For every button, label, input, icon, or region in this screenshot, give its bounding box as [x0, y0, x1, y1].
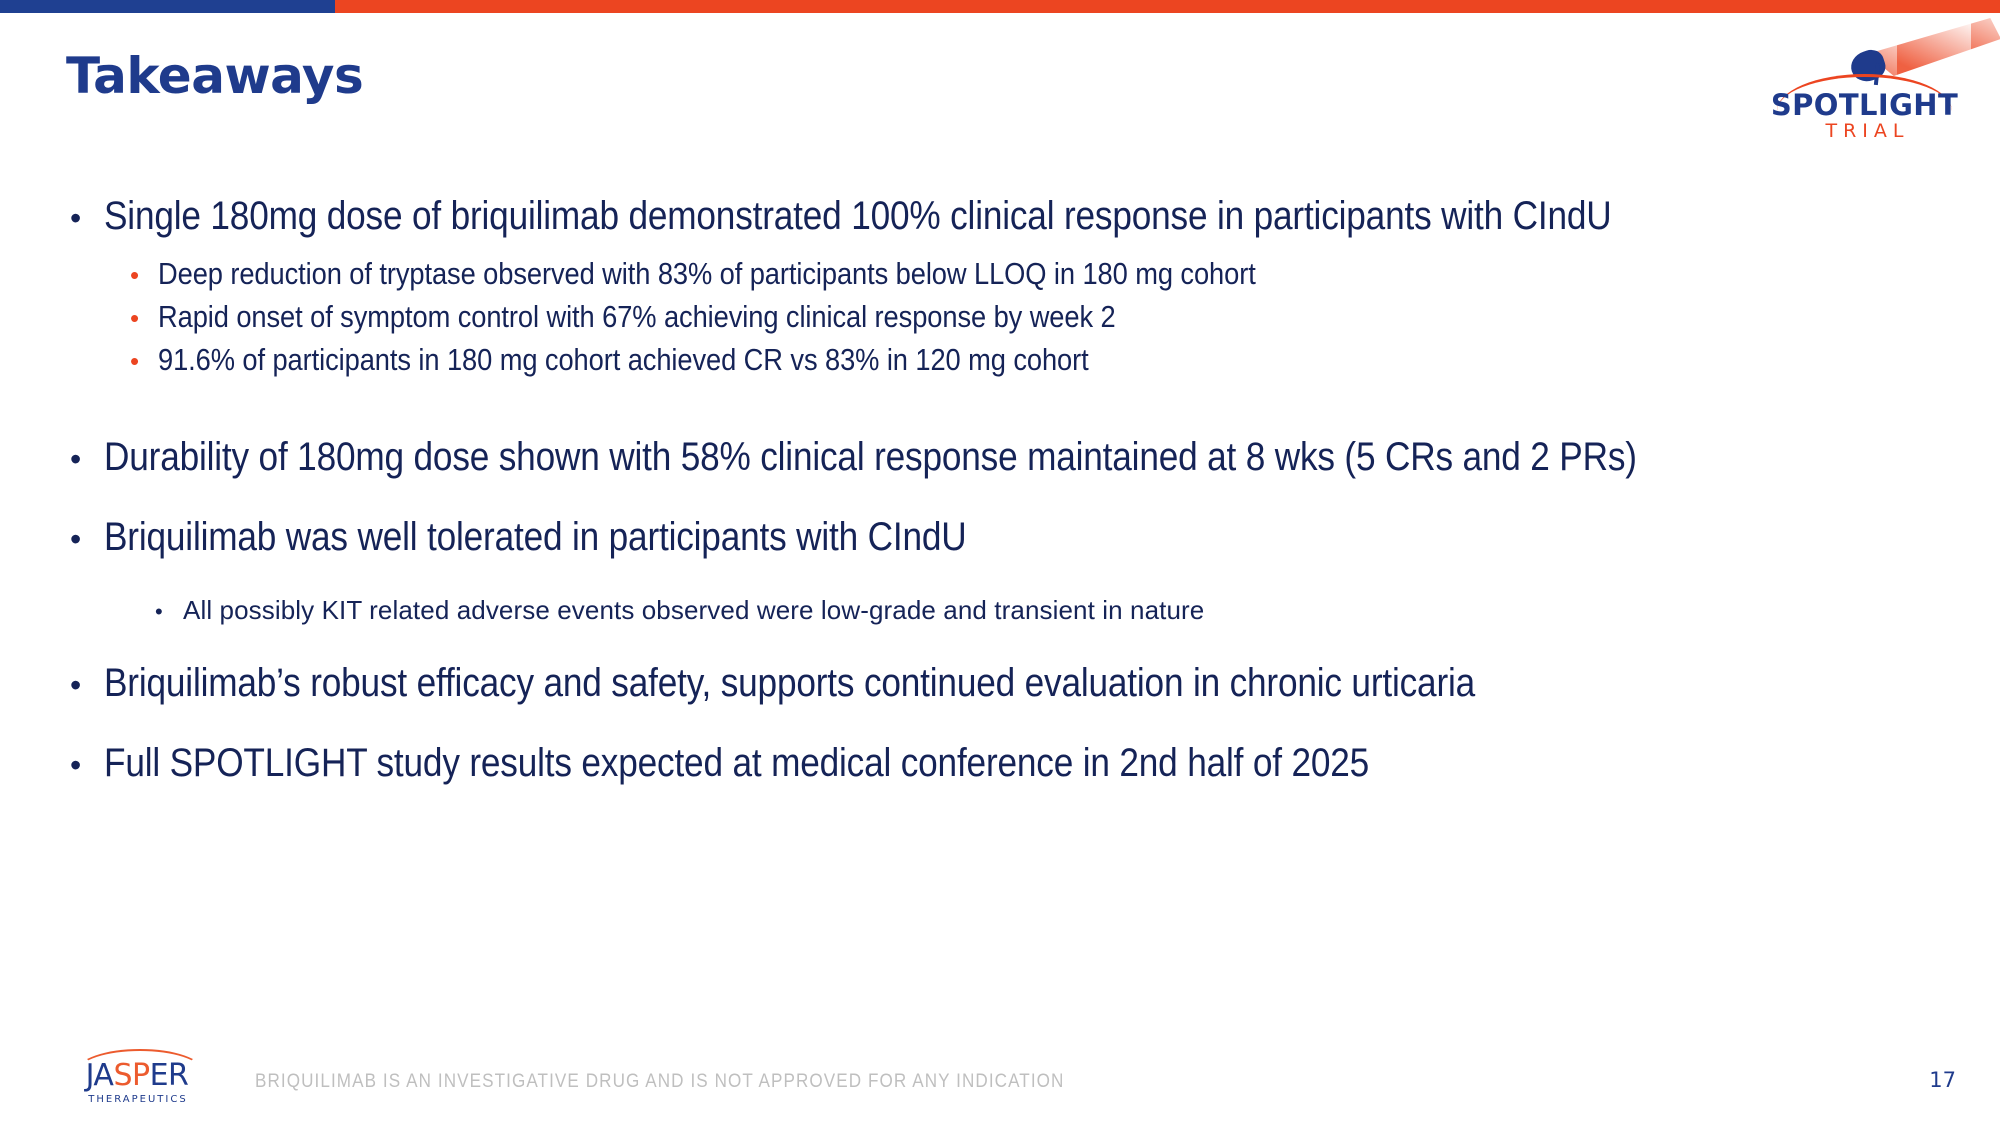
jasper-word-part-2: SP — [113, 1058, 149, 1093]
bullet-dot-icon: • — [130, 262, 158, 288]
bullet-text: 91.6% of participants in 180 mg cohort a… — [158, 344, 1089, 375]
spacer — [0, 477, 2000, 517]
spacer — [0, 703, 2000, 743]
bullet-dot-icon: • — [70, 669, 104, 701]
bullet-text: Durability of 180mg dose shown with 58% … — [104, 437, 1637, 477]
bullet-text: Briquilimab was well tolerated in partic… — [104, 517, 967, 557]
spacer — [0, 557, 2000, 597]
bullet-item: • Durability of 180mg dose shown with 58… — [0, 437, 2000, 477]
bullet-item: • 91.6% of participants in 180 mg cohort… — [0, 344, 2000, 375]
spotlight-subword: TRIAL — [1757, 120, 1972, 142]
page-title: Takeaways — [66, 50, 363, 103]
jasper-subword: THERAPEUTICS — [72, 1095, 202, 1105]
bullet-text: All possibly KIT related adverse events … — [183, 597, 1204, 623]
bullet-item: • Deep reduction of tryptase observed wi… — [0, 258, 2000, 289]
disclaimer-text: BRIQUILIMAB IS AN INVESTIGATIVE DRUG AND… — [255, 1071, 1064, 1093]
bullet-dot-icon: • — [130, 348, 158, 374]
bullet-text: Deep reduction of tryptase observed with… — [158, 258, 1256, 289]
slide-footer: JASPER THERAPEUTICS BRIQUILIMAB IS AN IN… — [0, 1015, 2000, 1125]
top-bar-orange-segment — [335, 0, 2000, 13]
bullet-item: • All possibly KIT related adverse event… — [0, 597, 2000, 623]
bullet-item: • Single 180mg dose of briquilimab demon… — [0, 196, 2000, 236]
spacer — [0, 623, 2000, 663]
slide: Takeaways SPOTLIGHT TRIAL • Single 180mg… — [0, 0, 2000, 1125]
top-bar-blue-segment — [0, 0, 335, 13]
bullet-text: Full SPOTLIGHT study results expected at… — [104, 743, 1369, 783]
bullet-dot-icon: • — [70, 443, 104, 475]
bullet-dot-icon: • — [70, 523, 104, 555]
bullet-text: Briquilimab’s robust efficacy and safety… — [104, 663, 1475, 703]
spacer — [0, 236, 2000, 258]
bullet-text: Single 180mg dose of briquilimab demonst… — [104, 196, 1611, 236]
jasper-word-part-1: JA — [86, 1058, 114, 1093]
bullet-item: • Rapid onset of symptom control with 67… — [0, 301, 2000, 332]
top-accent-bar — [0, 0, 2000, 13]
page-number: 17 — [1929, 1070, 1956, 1091]
spacer — [0, 375, 2000, 415]
spotlight-beam-icon — [1867, 18, 2000, 76]
spotlight-trial-logo: SPOTLIGHT TRIAL — [1757, 16, 1972, 128]
takeaways-bullet-list: • Single 180mg dose of briquilimab demon… — [0, 196, 2000, 783]
jasper-word-part-3: ER — [150, 1058, 189, 1093]
bullet-dot-icon: • — [130, 305, 158, 331]
bullet-dot-icon: • — [70, 202, 104, 234]
bullet-dot-icon: • — [70, 749, 104, 781]
jasper-wordmark: JASPER — [72, 1061, 202, 1091]
bullet-text: Rapid onset of symptom control with 67% … — [158, 301, 1116, 332]
jasper-therapeutics-logo: JASPER THERAPEUTICS — [72, 1049, 202, 1111]
bullet-item: • Briquilimab’s robust efficacy and safe… — [0, 663, 2000, 703]
spacer — [0, 415, 2000, 437]
bullet-item: • Full SPOTLIGHT study results expected … — [0, 743, 2000, 783]
bullet-item: • Briquilimab was well tolerated in part… — [0, 517, 2000, 557]
spotlight-wordmark: SPOTLIGHT — [1757, 88, 1972, 122]
bullet-dot-icon: • — [155, 601, 183, 623]
